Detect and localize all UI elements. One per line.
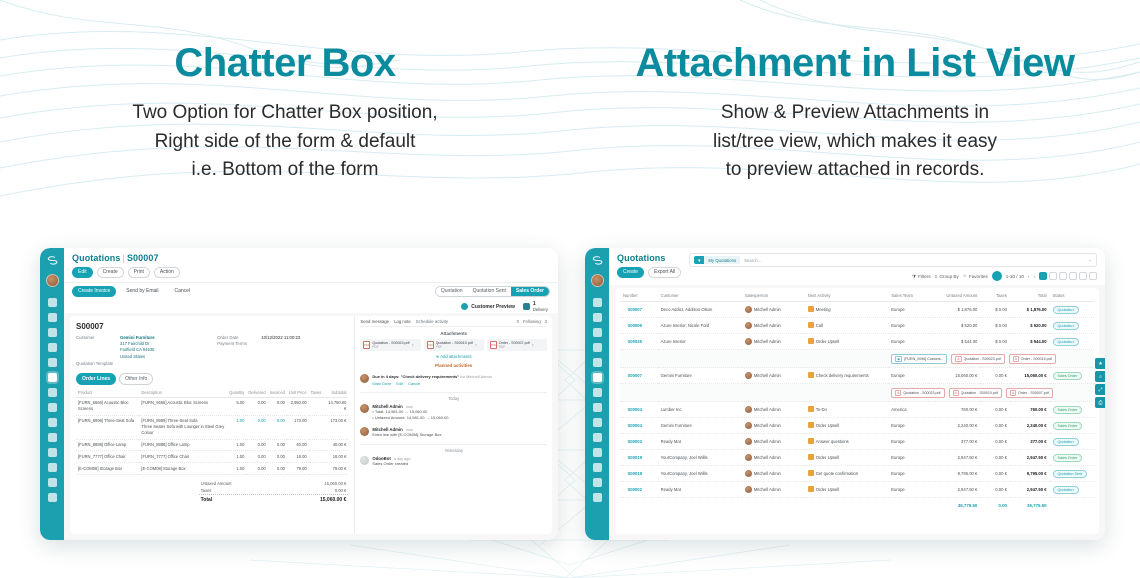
sidebar-icon-settings[interactable]	[48, 493, 57, 502]
pdf-icon: PDF	[363, 341, 370, 349]
cell-untaxed: 2,947.50 €	[928, 482, 981, 498]
field-order-date: Order Date 10/12/2022 11:00:23	[217, 335, 348, 340]
cell-taxes: 0.00 €	[980, 402, 1010, 418]
search-bar[interactable]: ▼ My Quotations Search... ⌄	[689, 253, 1097, 267]
attachment-name: [FURN_0096] Customi...	[904, 357, 943, 361]
cell-sales-team: Europe	[888, 418, 928, 434]
cell-invoiced: 0.00	[268, 451, 287, 463]
message-time: now	[406, 428, 413, 432]
search-facet-my-quotations[interactable]: ▼ My Quotations	[694, 256, 740, 264]
cell-salesperson: Mitchell Admin	[742, 318, 805, 334]
address-lines: 317 Fairchild Dr Fairfield CA 94535 Unit…	[120, 341, 154, 360]
close-icon[interactable]: ×	[475, 343, 477, 347]
cell-number[interactable]: ◌S00019	[620, 450, 658, 466]
field-value-order-date[interactable]: 10/12/2022 11:00:23	[261, 335, 300, 340]
attachment-chip[interactable]: ▣[FURN_0096] Customi...	[891, 354, 947, 364]
status-bar: Quotation Quotation Sent Sales Order	[435, 286, 550, 297]
field-quotation-template: Quotation Template	[76, 361, 207, 366]
avatar	[745, 470, 752, 477]
view-switcher	[1039, 272, 1097, 280]
attachment-chip[interactable]: AOrder - S00015.pdf	[1009, 354, 1056, 364]
record-toggle-icon[interactable]: ◌	[623, 307, 626, 312]
group-by-button[interactable]: ≡Group By	[935, 274, 959, 279]
col-next-activity[interactable]: Next Activity	[805, 290, 889, 302]
attachment-chips-cell: AQuotation - S00023.pdfAQuotation - S000…	[888, 384, 1094, 402]
edit-link[interactable]: Edit	[396, 381, 403, 386]
subtitle-line: Two Option for Chatter Box position,	[40, 99, 530, 128]
odoo-logo-icon[interactable]	[588, 252, 606, 270]
list-pane: Quotations Create Export All ▼ My Quotat…	[609, 248, 1105, 540]
search-icon[interactable]: ⌕	[1095, 371, 1105, 382]
attachment-name: Quotation - S00023.pdf	[903, 391, 940, 395]
pager-next-button[interactable]: ›	[1033, 274, 1035, 279]
cell-description: [FURN_7777] Office Chair	[139, 451, 227, 463]
form-sheet: S00007 Customer Gemini Furniture 317 Fai…	[70, 316, 354, 535]
sidebar-icon-contacts[interactable]	[593, 343, 602, 352]
cell-taxes	[309, 463, 324, 475]
phone-icon	[808, 322, 814, 328]
breadcrumb-app: Quotations	[617, 253, 666, 263]
field-label-order-date: Order Date	[217, 335, 257, 340]
chatter-attachment-list: PDFQuotation - S00023.pdfPDF×PDFQuotatio…	[360, 339, 547, 351]
record-toggle-icon[interactable]: ◌	[623, 323, 626, 328]
filters-label: Filters	[918, 274, 931, 279]
create-button[interactable]: Create	[97, 267, 124, 278]
sidebar-icon-accounting[interactable]	[593, 433, 602, 442]
pager-previous-button[interactable]: ‹	[1028, 274, 1030, 279]
activity-assignee: for Mitchell Admin	[460, 374, 492, 379]
attachment-name: Quotation - S00010.pdf	[961, 391, 998, 395]
form-pane: Quotations|S00007 Edit Create Print Acti…	[64, 248, 558, 540]
delivery-label: Delivery	[533, 307, 548, 312]
attachment-row: ▣[FURN_0096] Customi...AQuotation - S000…	[620, 350, 1094, 368]
attachment-type: PDF	[372, 345, 409, 349]
cell-next-activity: Meeting	[805, 302, 889, 318]
pdf-icon: A	[955, 356, 961, 362]
record-toggle-icon[interactable]: ◌	[623, 471, 626, 476]
send-message-button[interactable]: Send message	[360, 319, 389, 324]
status-badge: Quotation	[1053, 486, 1079, 494]
followers-count[interactable]: 0	[517, 319, 519, 324]
cell-number[interactable]: ◌S00004	[620, 418, 658, 434]
smart-button-customer-preview[interactable]: Customer Preview	[461, 301, 515, 313]
chart-icon	[808, 486, 814, 492]
following-count[interactable]: 3	[545, 319, 547, 324]
sidebar-icon-inventory[interactable]	[48, 388, 57, 397]
breadcrumb: Quotations|S00007	[72, 253, 550, 263]
cell-delivered: 0.00	[246, 439, 267, 451]
quotations-table: Number Customer Salesperson Next Activit…	[620, 290, 1094, 512]
heading-right: Attachment in List View Show & Preview A…	[570, 42, 1140, 185]
graph-view-icon[interactable]	[1079, 272, 1087, 280]
cell-status: Quotation	[1050, 302, 1094, 318]
close-icon[interactable]: ×	[412, 343, 414, 347]
order-line-row[interactable]: [FURN_6666] Acoustic Bloc Screens[FURN_6…	[76, 397, 348, 415]
cell-total: 2,947.50 €	[1010, 482, 1050, 498]
calendar-view-icon[interactable]	[1059, 272, 1067, 280]
table-row[interactable]: ◌S00006Azure Interior, Nicole FordMitche…	[620, 318, 1094, 334]
cell-product: [FURN_6666] Acoustic Bloc Screens	[76, 397, 139, 415]
attachment-chip[interactable]: PDFOrder - S00007.pdfPDF×	[487, 339, 547, 351]
cell-untaxed: $ 544.00	[928, 334, 981, 350]
cell-description: [FURN_8999] Three-Seat SofaThree Seater …	[139, 415, 227, 439]
avatar	[745, 306, 752, 313]
attachment-type: PDF	[436, 345, 473, 349]
cell-unit-price: 2,950.00	[287, 397, 309, 415]
sidebar-icon-contacts[interactable]	[48, 343, 57, 352]
log-note-button[interactable]: Log note	[394, 319, 411, 324]
cell-number[interactable]: ◌S00025	[620, 334, 658, 350]
status-badge: Quotation	[1053, 338, 1079, 346]
cell-untaxed: 9,795.00 €	[928, 466, 981, 482]
col-salesperson[interactable]: Salesperson	[742, 290, 805, 302]
record-toggle-icon[interactable]: ◌	[623, 455, 626, 460]
form-fields-left: Customer Gemini Furniture 317 Fairchild …	[76, 335, 207, 368]
cell-customer: YourCompany, Joel Willis	[658, 466, 742, 482]
cell-customer: Azure Interior	[658, 334, 742, 350]
attachment-name: Order - S00007.pdf	[1018, 391, 1049, 395]
avatar	[360, 427, 369, 436]
filter-icon: ▼	[694, 256, 704, 264]
form-status-row: Create Invoice Send by Email Cancel Quot…	[64, 282, 558, 299]
sidebar-icon-sales[interactable]	[593, 373, 602, 382]
cell-taxes: $ 0.00	[980, 334, 1010, 350]
field-customer: Customer Gemini Furniture	[76, 335, 207, 340]
table-row[interactable]: ◌S00007Deco Addict, Addison OlsonMitchel…	[620, 302, 1094, 318]
subtitle-line: i.e. Bottom of the form	[40, 156, 530, 185]
order-line-row[interactable]: [FURN_7777] Office Chair[FURN_7777] Offi…	[76, 451, 348, 463]
field-label-quotation-template: Quotation Template	[76, 361, 113, 366]
action-button[interactable]: Action	[154, 267, 180, 278]
cell-customer: Lumber Inc	[658, 402, 742, 418]
customer-address: 317 Fairchild Dr Fairfield CA 94535 Unit…	[76, 341, 207, 360]
cell-number[interactable]: ◌S00007	[620, 302, 658, 318]
activity-due: Due in 4 days:	[372, 374, 399, 379]
cell-salesperson: Mitchell Admin	[742, 368, 805, 384]
activity-line: Due in 4 days: "Check delivery requireme…	[372, 374, 491, 380]
funnel-icon: ⧩	[912, 274, 916, 279]
cancel-button[interactable]: Cancel	[169, 286, 197, 297]
cell-taxes: 0.00 €	[980, 368, 1010, 384]
status-quotation[interactable]: Quotation	[436, 287, 468, 296]
cell-quantity: 1.00	[227, 439, 246, 451]
cell-number[interactable]: ◌S00002	[620, 482, 658, 498]
headings-row: Chatter Box Two Option for Chatter Box p…	[0, 0, 1140, 185]
table-row[interactable]: ◌S00007Gemini FurnitureMitchell AdminChe…	[620, 368, 1094, 384]
order-line-row[interactable]: [E-COM08] Storage Box[E-COM08] Storage B…	[76, 463, 348, 475]
order-lines-body: [FURN_6666] Acoustic Bloc Screens[FURN_6…	[76, 397, 348, 474]
attachment-chip[interactable]: PDFQuotation - S00023.pdfPDF×	[360, 339, 420, 351]
cell-number[interactable]: ◌S00006	[620, 318, 658, 334]
footer-total: 36,775.50	[1010, 498, 1050, 512]
schedule-activity-button[interactable]: Schedule activity	[416, 319, 448, 324]
chevron-down-icon[interactable]: ⌄	[1088, 257, 1092, 263]
record-toggle-icon[interactable]: ◌	[623, 487, 626, 492]
print-button[interactable]: Print	[128, 267, 150, 278]
attachment-chip[interactable]: AQuotation - S00010.pdf	[949, 388, 1002, 398]
workflow-buttons: Create Invoice Send by Email Cancel	[72, 286, 196, 297]
record-toggle-icon[interactable]: ◌	[623, 339, 626, 344]
favorites-button[interactable]: ☆Favorites	[963, 273, 988, 279]
status-sales-order[interactable]: Sales Order	[511, 287, 549, 296]
status-badge: Quotation	[1053, 306, 1079, 314]
user-avatar[interactable]	[46, 274, 59, 287]
record-toggle-icon[interactable]: ◌	[623, 373, 626, 378]
cell-number[interactable]: ◌S00003	[620, 434, 658, 450]
record-toggle-icon[interactable]: ◌	[623, 423, 626, 428]
sidebar-icon-crm[interactable]	[48, 358, 57, 367]
heading-right-subtitle: Show & Preview Attachments in list/tree …	[594, 99, 1116, 185]
subtitle-line: to preview attached in records.	[594, 156, 1116, 185]
total-untaxed: Untaxed Amount 15,060.00 €	[199, 480, 349, 487]
sidebar-icon-calendar[interactable]	[593, 328, 602, 337]
breadcrumb-separator: |	[123, 253, 125, 263]
col-number[interactable]: Number	[620, 290, 658, 302]
list-view-screenshot: Quotations Create Export All ▼ My Quotat…	[585, 248, 1105, 540]
avatar	[745, 322, 752, 329]
create-invoice-button[interactable]: Create Invoice	[72, 286, 116, 297]
cell-salesperson: Mitchell Admin	[742, 418, 805, 434]
sidebar-icon-home[interactable]	[593, 298, 602, 307]
tab-other-info[interactable]: Other Info	[119, 373, 153, 385]
cell-total: 9,795.00 €	[1010, 466, 1050, 482]
refresh-icon[interactable]	[992, 271, 1002, 281]
sidebar-icon-crm[interactable]	[593, 358, 602, 367]
field-label-customer: Customer	[76, 335, 116, 340]
tab-order-lines[interactable]: Order Lines	[76, 373, 116, 385]
table-row[interactable]: ◌S00025Azure InteriorMitchell AdminOrder…	[620, 334, 1094, 350]
cell-untaxed: $ 1,876.00	[928, 302, 981, 318]
cell-sales-team: Europe	[888, 450, 928, 466]
pivot-view-icon[interactable]	[1069, 272, 1077, 280]
col-quantity[interactable]: Quantity	[227, 388, 246, 398]
footer-untaxed: 36,775.50	[928, 498, 981, 512]
sidebar-icon-sales[interactable]	[48, 373, 57, 382]
page-title-attachment-list-view: Attachment in List View	[594, 42, 1116, 85]
cell-taxes: $ 0.00	[980, 318, 1010, 334]
col-product[interactable]: Product	[76, 388, 139, 398]
cell-product: [FURN_8888] Office Lamp	[76, 439, 139, 451]
sidebar-icon-apps[interactable]	[593, 478, 602, 487]
cell-sales-team: America	[888, 402, 928, 418]
col-status[interactable]: Status	[1050, 290, 1094, 302]
cell-total: $ 1,876.00	[1010, 302, 1050, 318]
sidebar-icon-pin[interactable]	[593, 313, 602, 322]
sidebar-icon-settings[interactable]	[593, 493, 602, 502]
attachment-name: Quotation - S00010.pdfPDF	[436, 341, 473, 349]
list-view-icon[interactable]	[1039, 272, 1047, 280]
total-taxes-label: Taxes	[201, 488, 212, 493]
expand-icon[interactable]: ⤢	[1095, 384, 1105, 395]
status-quotation-sent[interactable]: Quotation Sent	[468, 287, 511, 296]
sidebar-icon-apps[interactable]	[48, 478, 57, 487]
cell-total: 2,240.00 €	[1010, 418, 1050, 434]
cell-salesperson: Mitchell Admin	[742, 402, 805, 418]
chatter-followers: 0 Following 3	[517, 319, 547, 324]
cell-sales-team: Europe	[888, 466, 928, 482]
cell-number[interactable]: ◌S00007	[620, 368, 658, 384]
col-sales-team[interactable]: Sales Team	[888, 290, 928, 302]
order-totals: Untaxed Amount 15,060.00 € Taxes 0.00 € …	[199, 480, 349, 504]
col-unit-price[interactable]: Unit Price	[287, 388, 309, 398]
field-label-payment-terms: Payment Terms	[217, 341, 257, 346]
cell-sales-team: Europe	[888, 302, 928, 318]
add-attachments-button[interactable]: ⊕ Add attachments	[360, 354, 547, 359]
export-all-button[interactable]: Export All	[648, 267, 681, 278]
cell-description: [E-COM08] Storage Box	[139, 463, 227, 475]
cell-sales-team: Europe	[888, 318, 928, 334]
status-badge: Sales Order	[1053, 372, 1083, 380]
record-toggle-icon[interactable]: ◌	[623, 439, 626, 444]
table-footer-totals: 36,775.500.0036,775.50	[620, 498, 1094, 512]
list-action-buttons: Create Export All	[617, 267, 681, 278]
sidebar-icon-purchase[interactable]	[593, 403, 602, 412]
odoo-logo-icon[interactable]	[43, 252, 61, 270]
record-toggle-icon[interactable]: ◌	[623, 407, 626, 412]
attachment-name: Quotation - S00023.pdf	[964, 357, 1001, 361]
attachment-chip[interactable]: AQuotation - S00023.pdf	[951, 354, 1004, 364]
cell-customer: Ready Mat	[658, 434, 742, 450]
edit-button[interactable]: Edit	[72, 267, 93, 278]
pdf-icon: PDF	[427, 341, 434, 349]
sidebar-icon-manufacturing[interactable]	[593, 418, 602, 427]
col-customer[interactable]: Customer	[658, 290, 742, 302]
cell-unit-price: 40.00	[287, 439, 309, 451]
cell-taxes: 0.00 €	[980, 482, 1010, 498]
sidebar-icon-manufacturing[interactable]	[48, 418, 57, 427]
filters-button[interactable]: ⧩Filters	[912, 274, 931, 279]
attachment-chip[interactable]: PDFQuotation - S00010.pdfPDF×	[424, 339, 484, 351]
chatter-message: Mitchell Adminnow• Total: 14,981.00 → 15…	[360, 401, 547, 424]
cell-number[interactable]: ◌S00004	[620, 402, 658, 418]
cell-number[interactable]: ◌S00018	[620, 466, 658, 482]
cell-product: [FURN_7777] Office Chair	[76, 451, 139, 463]
activity-view-icon[interactable]	[1089, 272, 1097, 280]
pdf-icon: A	[895, 390, 901, 396]
cell-taxes	[309, 415, 324, 439]
status-badge: Quotation	[1053, 438, 1079, 446]
breadcrumb-app[interactable]: Quotations	[72, 253, 121, 263]
cell-taxes: 0.00 €	[980, 466, 1010, 482]
pdf-icon: A	[953, 390, 959, 396]
cell-next-activity: To-Do	[805, 402, 889, 418]
status-badge: Sales Order	[1053, 406, 1083, 414]
attachment-chip[interactable]: AQuotation - S00023.pdf	[891, 388, 944, 398]
table-row[interactable]: ◌S00004Gemini FurnitureMitchell AdminOrd…	[620, 418, 1094, 434]
col-taxes[interactable]: Taxes	[309, 388, 324, 398]
col-subtotal[interactable]: Subtotal	[323, 388, 348, 398]
question-icon	[808, 438, 814, 444]
total-untaxed-value: 15,060.00 €	[324, 481, 346, 486]
col-taxes[interactable]: Taxes	[980, 290, 1010, 302]
attachment-row: AQuotation - S00023.pdfAQuotation - S000…	[620, 384, 1094, 402]
mark-done-link[interactable]: Mark Done	[372, 381, 391, 386]
cell-unit-price: 79.00	[287, 463, 309, 475]
attachment-name: Order - S00015.pdf	[1021, 357, 1052, 361]
create-button[interactable]: Create	[617, 267, 644, 278]
sidebar-icon-pin[interactable]	[48, 313, 57, 322]
table-row[interactable]: ◌S00018YourCompany, Joel WillisMitchell …	[620, 466, 1094, 482]
total-untaxed-label: Untaxed Amount	[201, 481, 232, 486]
order-lines-table: Product Description Quantity Delivered I…	[76, 388, 348, 475]
cell-customer: YourCompany, Joel Willis	[658, 450, 742, 466]
col-delivered[interactable]: Delivered	[246, 388, 267, 398]
form-view-screenshot: Quotations|S00007 Edit Create Print Acti…	[40, 248, 558, 540]
cell-next-activity: Order Upsell	[805, 418, 889, 434]
attachment-spacer	[620, 350, 888, 368]
message-body: Extra line with [E-COM08] Storage Box	[372, 432, 441, 438]
avatar	[360, 456, 369, 465]
pager[interactable]: 1-10 / 10	[1006, 274, 1024, 279]
subtitle-line: Show & Preview Attachments in	[594, 99, 1116, 128]
search-input[interactable]: Search...	[744, 258, 761, 263]
following-label[interactable]: Following	[523, 319, 541, 324]
field-value-customer[interactable]: Gemini Furniture	[120, 335, 155, 340]
chatter-message-list: Mitchell Adminnow• Total: 14,981.00 → 15…	[360, 401, 547, 470]
sidebar-icon-inventory[interactable]	[593, 388, 602, 397]
cell-invoiced: 0.00	[268, 397, 287, 415]
cell-subtotal: 173.00 €	[323, 415, 348, 439]
table-row[interactable]: ◌S00019YourCompany, Joel WillisMitchell …	[620, 450, 1094, 466]
cell-invoiced: 0.00	[268, 415, 287, 439]
pdf-icon: A	[1010, 390, 1016, 396]
send-by-email-button[interactable]: Send by Email	[120, 286, 164, 297]
order-line-row[interactable]: [FURN_8888] Office Lamp[FURN_8888] Offic…	[76, 439, 348, 451]
star-icon[interactable]: ★	[1095, 358, 1105, 369]
cell-sales-team: Europe	[888, 482, 928, 498]
breadcrumb: Quotations	[617, 253, 681, 263]
print-icon[interactable]: ⎙	[1095, 397, 1105, 408]
order-line-row[interactable]: [FURN_8999] Three-Seat Sofa[FURN_8999] T…	[76, 415, 348, 439]
sidebar-icon-employees[interactable]	[593, 448, 602, 457]
field-payment-terms: Payment Terms	[217, 341, 348, 346]
list-control-panel: Quotations Create Export All ▼ My Quotat…	[609, 248, 1105, 285]
cancel-link[interactable]: Cancel	[408, 381, 420, 386]
cell-taxes: $ 0.00	[980, 302, 1010, 318]
customer-preview-label: Customer Preview	[471, 304, 515, 310]
table-row[interactable]: ◌S00004Lumber IncMitchell AdminTo-DoAmer…	[620, 402, 1094, 418]
kanban-view-icon[interactable]	[1049, 272, 1057, 280]
sidebar-icon-employees[interactable]	[48, 448, 57, 457]
sidebar-icon-home[interactable]	[48, 298, 57, 307]
user-avatar[interactable]	[591, 274, 604, 287]
cell-subtotal: 18.00 €	[323, 451, 348, 463]
table-row[interactable]: ◌S00003Ready MatMitchell AdminAnswer que…	[620, 434, 1094, 450]
activity-links: Mark Done Edit Cancel	[372, 381, 491, 386]
quotations-table-body: ◌S00007Deco Addict, Addison OlsonMitchel…	[620, 302, 1094, 512]
cell-total: 2,947.50 €	[1010, 450, 1050, 466]
col-description[interactable]: Description	[139, 388, 227, 398]
cell-customer: Azure Interior, Nicole Ford	[658, 318, 742, 334]
col-invoiced[interactable]: Invoiced	[268, 388, 287, 398]
cell-taxes: 0.00 €	[980, 418, 1010, 434]
smart-button-delivery[interactable]: 1Delivery	[523, 301, 548, 313]
cell-delivered: 0.00	[246, 451, 267, 463]
cell-status: Quotation	[1050, 482, 1094, 498]
sidebar-icon-purchase[interactable]	[48, 403, 57, 412]
sidebar-icon-recruitment[interactable]	[48, 463, 57, 472]
table-row[interactable]: ◌S00002Ready MatMitchell AdminOrder Upse…	[620, 482, 1094, 498]
sidebar-icon-calendar[interactable]	[48, 328, 57, 337]
col-untaxed-amount[interactable]: Untaxed Amount	[928, 290, 981, 302]
attachment-chips-cell: ▣[FURN_0096] Customi...AQuotation - S000…	[888, 350, 1094, 368]
close-icon[interactable]: ×	[532, 343, 534, 347]
col-total[interactable]: Total	[1010, 290, 1050, 302]
attachment-chip[interactable]: AOrder - S00007.pdf	[1006, 388, 1053, 398]
footer-taxes: 0.00	[980, 498, 1010, 512]
sidebar-icon-accounting[interactable]	[48, 433, 57, 442]
sidebar-icon-recruitment[interactable]	[593, 463, 602, 472]
